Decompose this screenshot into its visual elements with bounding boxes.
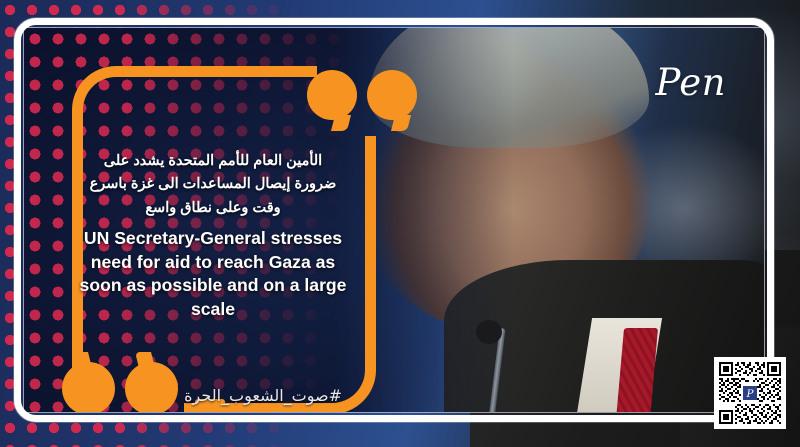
quote-arabic-line-2: ضرورة إيصال المساعدات الى غزة باسرع xyxy=(58,173,368,196)
quote-open-icon xyxy=(367,70,417,120)
quote-english-line-2: need for aid to reach Gaza as xyxy=(58,251,368,274)
quote-close-icon xyxy=(125,362,178,412)
social-media-quote-card: الأمين العام للأمم المتحدة يشدد على ضرور… xyxy=(0,0,800,447)
quote-english-block: UN Secretary-General stresses need for a… xyxy=(58,227,368,321)
qr-code-icon[interactable]: P xyxy=(714,357,786,429)
svg-text:P: P xyxy=(746,388,755,400)
quote-text-block: الأمين العام للأمم المتحدة يشدد على ضرور… xyxy=(58,150,368,321)
card-interior: الأمين العام للأمم المتحدة يشدد على ضرور… xyxy=(24,28,764,412)
quote-arabic-line-1: الأمين العام للأمم المتحدة يشدد على xyxy=(58,150,368,173)
pen-brand-logo: Pen xyxy=(656,64,726,101)
quote-english-line-1: UN Secretary-General stresses xyxy=(58,227,368,250)
quote-english-line-3: soon as possible and on a large xyxy=(58,274,368,297)
hashtag-text: #صوت_الشعوب_الحرة xyxy=(192,386,342,405)
quote-open-icon xyxy=(307,70,357,120)
quote-arabic-line-3: وقت وعلى نطاق واسع xyxy=(58,197,368,220)
quote-open-group xyxy=(307,70,423,120)
quote-close-icon xyxy=(62,362,115,412)
quote-english-line-4: scale xyxy=(58,298,368,321)
